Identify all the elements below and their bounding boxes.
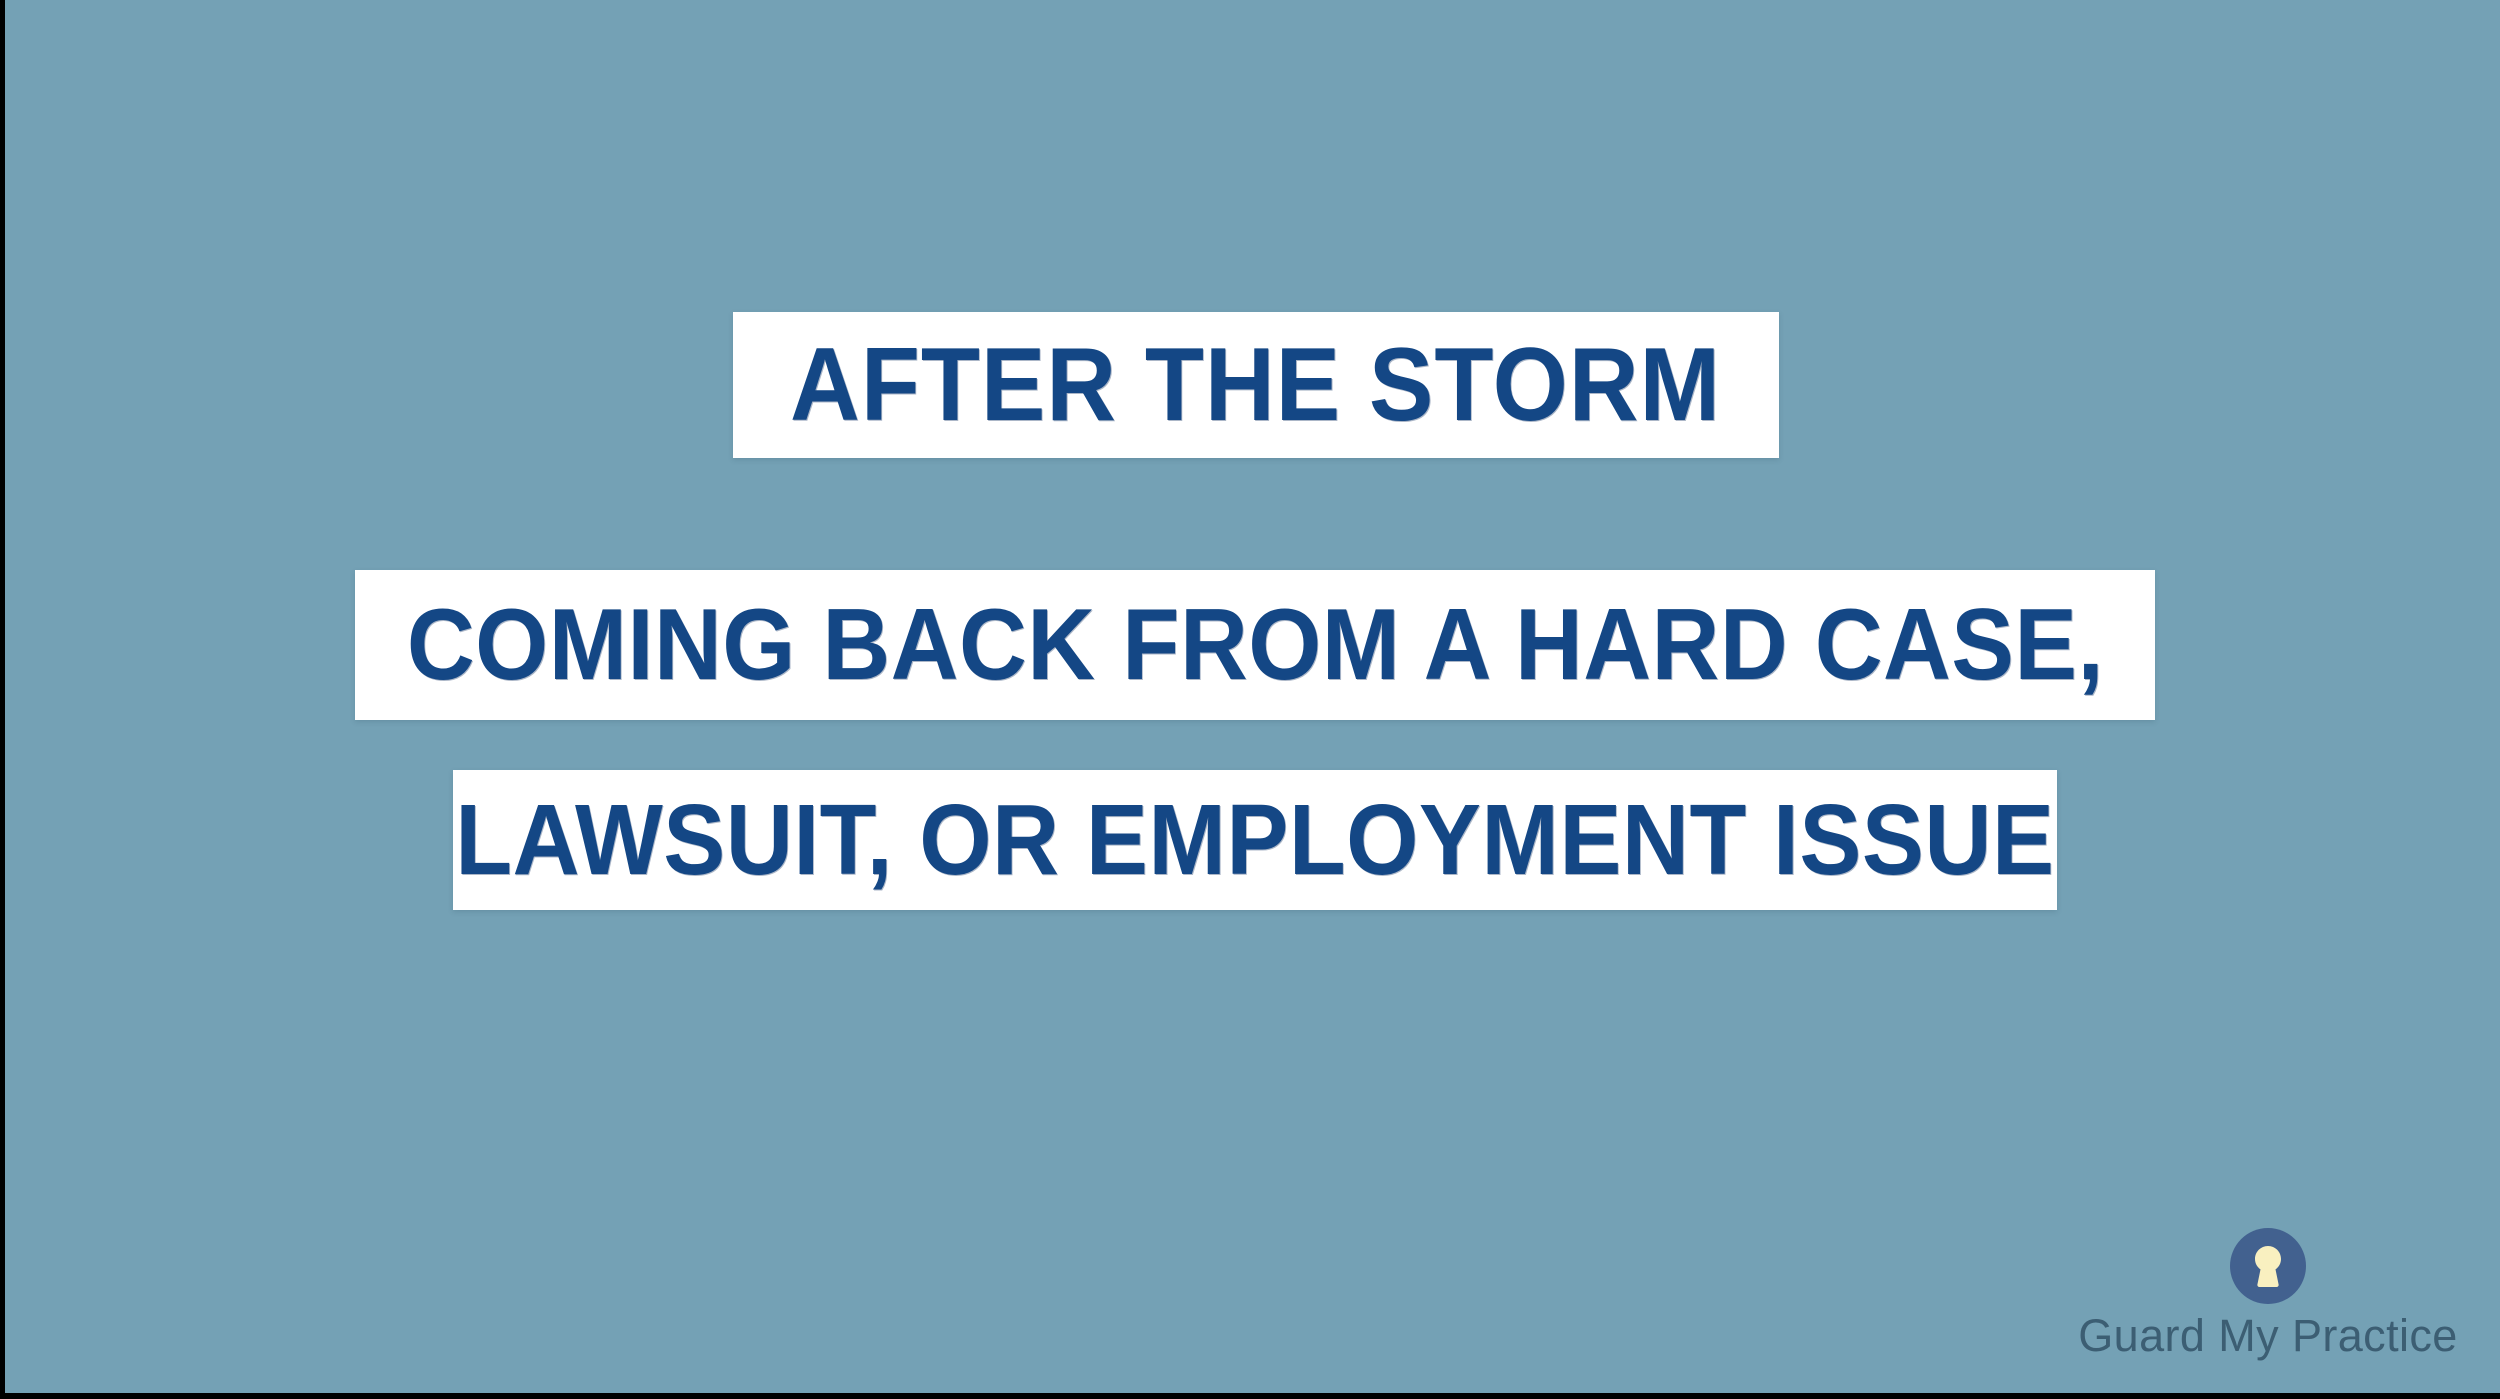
headline-band-2: COMING BACK FROM A HARD CASE,	[355, 570, 2155, 720]
brand-logo: Guard My Practice	[2058, 1228, 2478, 1361]
brand-name: Guard My Practice	[2078, 1311, 2457, 1361]
headline-band-1: AFTER THE STORM	[733, 312, 1779, 458]
headline-stack: AFTER THE STORM COMING BACK FROM A HARD …	[5, 0, 2500, 1393]
keyhole-icon	[2251, 1244, 2285, 1288]
slide-canvas: AFTER THE STORM COMING BACK FROM A HARD …	[0, 0, 2500, 1399]
headline-line-2: COMING BACK FROM A HARD CASE,	[406, 595, 2103, 696]
headline-line-1: AFTER THE STORM	[790, 333, 1721, 437]
headline-band-3: LAWSUIT, OR EMPLOYMENT ISSUE	[453, 770, 2057, 910]
headline-line-3: LAWSUIT, OR EMPLOYMENT ISSUE	[455, 790, 2054, 890]
logo-mark-circle	[2230, 1228, 2306, 1304]
